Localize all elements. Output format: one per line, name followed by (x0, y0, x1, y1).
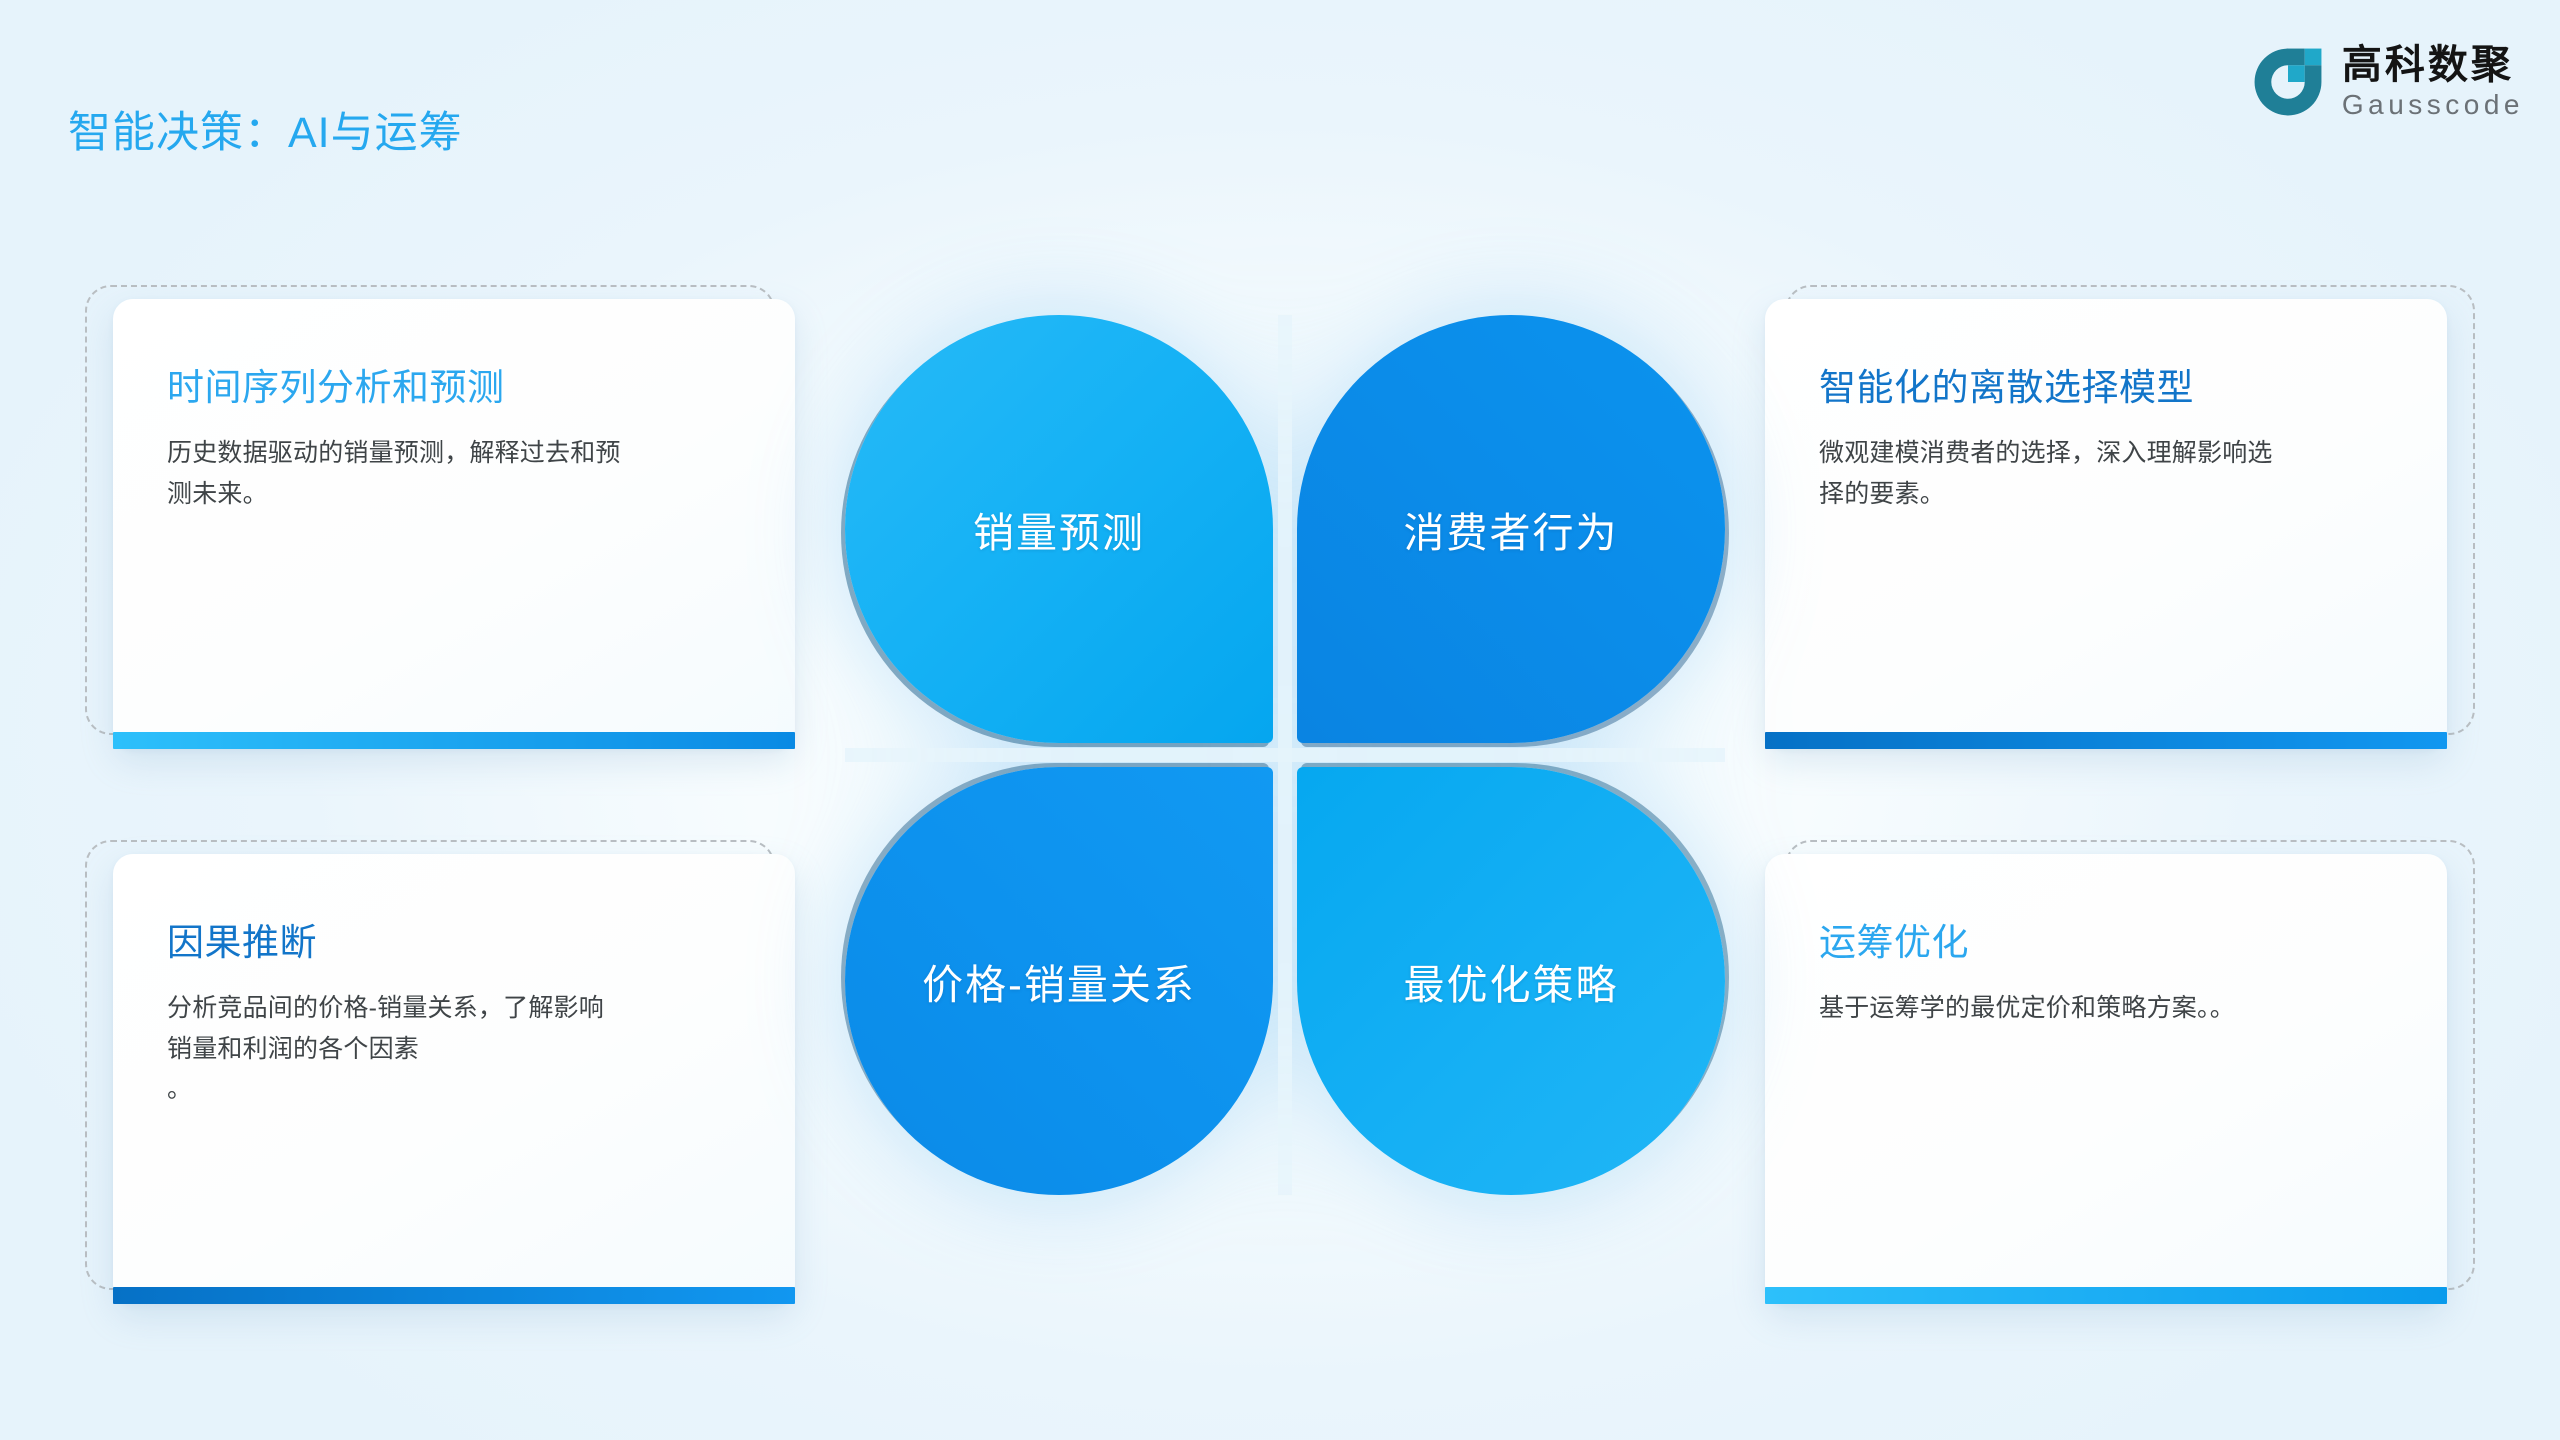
card-title: 因果推断 (167, 912, 741, 966)
card-body: 运筹优化 基于运筹学的最优定价和策略方案。。 (1765, 854, 2447, 1304)
card-title: 运筹优化 (1819, 912, 2393, 966)
card-description: 微观建模消费者的选择，深入理解影响选 择的要素。 (1819, 433, 2393, 514)
petal-price-sales-relation[interactable]: 价格-销量关系 (845, 767, 1273, 1195)
card-body: 智能化的离散选择模型 微观建模消费者的选择，深入理解影响选 择的要素。 (1765, 299, 2447, 749)
petal-label: 销量预测 (973, 499, 1145, 559)
info-card-time-series[interactable]: 时间序列分析和预测 历史数据驱动的销量预测，解释过去和预 测未来。 (85, 285, 775, 735)
logo-text-en: Gausscode (2342, 91, 2524, 119)
card-title: 时间序列分析和预测 (167, 357, 741, 411)
page-title: 智能决策：AI与运筹 (68, 98, 463, 160)
petal-label: 消费者行为 (1404, 499, 1619, 559)
petal-label: 最优化策略 (1404, 951, 1619, 1011)
brand-logo: 高科数聚 Gausscode (2250, 44, 2524, 120)
card-body: 时间序列分析和预测 历史数据驱动的销量预测，解释过去和预 测未来。 (113, 299, 795, 749)
info-card-discrete-choice[interactable]: 智能化的离散选择模型 微观建模消费者的选择，深入理解影响选 择的要素。 (1785, 285, 2475, 735)
info-card-operations-optimization[interactable]: 运筹优化 基于运筹学的最优定价和策略方案。。 (1785, 840, 2475, 1290)
petal-label: 价格-销量关系 (922, 951, 1196, 1011)
gausscode-logo-icon (2250, 44, 2326, 120)
card-body: 因果推断 分析竞品间的价格-销量关系，了解影响 销量和利润的各个因素 。 (113, 854, 795, 1304)
card-accent-bar (113, 732, 795, 749)
card-description: 基于运筹学的最优定价和策略方案。。 (1819, 988, 2393, 1029)
petal-seam-vertical (1278, 315, 1292, 1195)
card-accent-bar (1765, 1287, 2447, 1304)
card-accent-bar (1765, 732, 2447, 749)
card-description: 历史数据驱动的销量预测，解释过去和预 测未来。 (167, 433, 741, 514)
card-description: 分析竞品间的价格-销量关系，了解影响 销量和利润的各个因素 。 (167, 988, 741, 1110)
logo-text-cn: 高科数聚 (2342, 45, 2524, 85)
petal-consumer-behavior[interactable]: 消费者行为 (1297, 315, 1725, 743)
petal-optimal-strategy[interactable]: 最优化策略 (1297, 767, 1725, 1195)
petal-sales-forecast[interactable]: 销量预测 (845, 315, 1273, 743)
card-accent-bar (113, 1287, 795, 1304)
card-title: 智能化的离散选择模型 (1819, 357, 2393, 411)
page-header: 智能决策：AI与运筹 高科数聚 Gausscode (0, 0, 2560, 170)
four-petal-diagram: 销量预测 消费者行为 价格-销量关系 最优化策略 (845, 315, 1725, 1195)
info-card-causal-inference[interactable]: 因果推断 分析竞品间的价格-销量关系，了解影响 销量和利润的各个因素 。 (85, 840, 775, 1290)
